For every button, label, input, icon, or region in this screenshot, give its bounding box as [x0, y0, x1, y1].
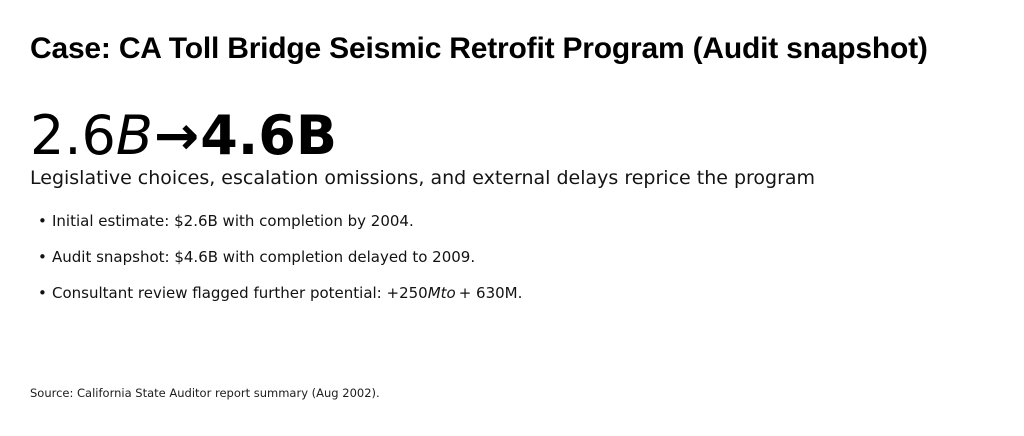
- source-note: Source: California State Auditor report …: [30, 386, 380, 401]
- headline-metric: 2.6B→4.6B: [30, 108, 994, 165]
- list-item: • Initial estimate: $2.6B with completio…: [38, 212, 994, 230]
- headline-block: 2.6B→4.6B Legislative choices, escalatio…: [30, 108, 994, 190]
- headline-before-value: 2.6: [30, 104, 116, 167]
- list-item-label-prefix: Consultant review flagged further potent…: [52, 284, 428, 302]
- right-arrow-icon: →: [153, 104, 200, 167]
- list-item: • Audit snapshot: $4.6B with completion …: [38, 248, 994, 266]
- bullet-marker-icon: •: [38, 212, 47, 230]
- list-item-label: Initial estimate: $2.6B with completion …: [52, 212, 414, 230]
- headline-before-unit: B: [116, 104, 153, 167]
- page-title: Case: CA Toll Bridge Seismic Retrofit Pr…: [30, 30, 1020, 68]
- headline-after-value: 4.6B: [200, 104, 337, 167]
- list-item-label-italic: Mto: [428, 284, 456, 302]
- bullet-list: • Initial estimate: $2.6B with completio…: [38, 212, 994, 302]
- list-item: • Consultant review flagged further pote…: [38, 284, 994, 302]
- headline-subtitle: Legislative choices, escalation omission…: [30, 167, 994, 191]
- list-item-label: Consultant review flagged further potent…: [52, 284, 522, 302]
- list-item-label-suffix: + 630M.: [456, 284, 523, 302]
- list-item-label: Audit snapshot: $4.6B with completion de…: [52, 248, 475, 266]
- bullet-marker-icon: •: [38, 248, 47, 266]
- bullet-marker-icon: •: [38, 284, 47, 302]
- slide-canvas: Case: CA Toll Bridge Seismic Retrofit Pr…: [0, 0, 1024, 436]
